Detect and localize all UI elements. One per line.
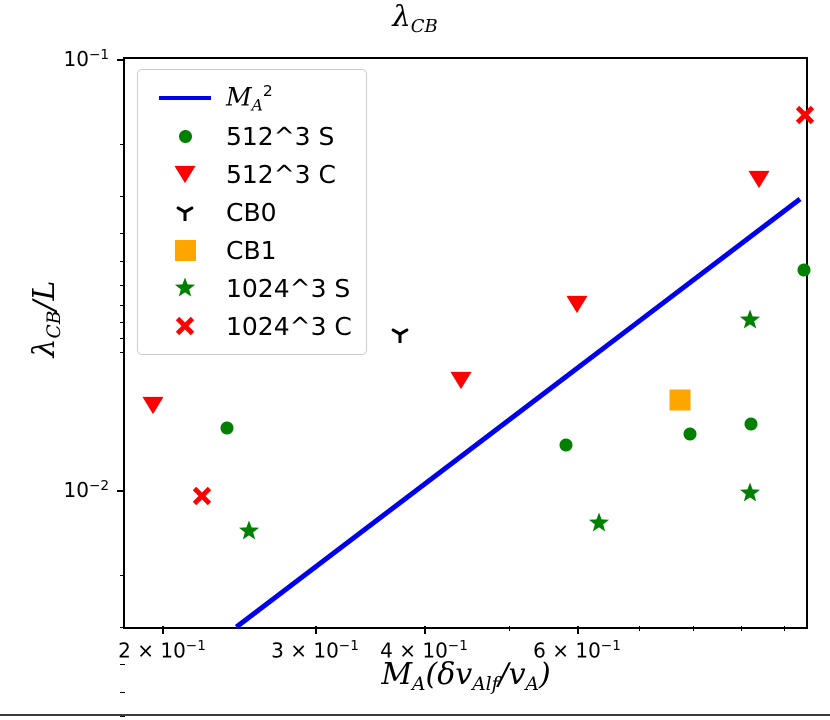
legend-item[interactable]: 1024^3 C <box>148 307 352 345</box>
legend-marker-square-icon <box>148 240 222 261</box>
y-tick-minor <box>120 233 125 234</box>
data-point <box>670 390 691 411</box>
figure-canvas: λCB λCB/L MA(δvAlf/vA) 2 × 10−13 × 10−14… <box>0 0 830 720</box>
data-point <box>739 309 761 331</box>
data-point <box>449 368 473 392</box>
legend-marker-tri-down-icon <box>148 203 222 221</box>
y-tick-minor <box>120 352 125 353</box>
xlabel-slash: / <box>498 657 508 692</box>
legend-item-label: 512^3 S <box>226 122 334 151</box>
legend-marker-x-icon <box>148 315 222 337</box>
y-tick-minor <box>120 692 125 693</box>
data-point <box>745 418 758 431</box>
data-point <box>684 428 697 441</box>
legend-marker-line-icon <box>148 96 222 100</box>
xlabel-v-sub: A <box>526 674 539 695</box>
legend[interactable]: MA2512^3 S512^3 CCB0CB11024^3 S1024^3 C <box>137 69 367 355</box>
legend-item[interactable]: 512^3 S <box>148 117 352 155</box>
y-tick-label: 10−1 <box>64 47 110 71</box>
y-tick-minor <box>120 305 125 306</box>
xlabel-dv-sub: Alf <box>472 674 498 695</box>
data-point <box>739 482 761 504</box>
y-tick-minor <box>120 664 125 665</box>
legend-item-label: 512^3 C <box>226 160 336 189</box>
ylabel-tail: /L <box>27 281 62 311</box>
x-axis-label: MA(δvAlf/vA) <box>123 657 809 695</box>
x-tick-major <box>424 626 426 634</box>
x-tick-major <box>162 626 164 634</box>
plot-area: 2 × 10−13 × 10−14 × 10−16 × 10−110−110−2… <box>123 57 808 629</box>
data-point <box>191 485 213 507</box>
y-tick-minor <box>120 338 125 339</box>
legend-item-label: MA2 <box>226 82 273 115</box>
legend-item-label: CB1 <box>226 236 277 265</box>
x-tick-major <box>315 626 317 634</box>
legend-item[interactable]: 512^3 C <box>148 155 352 193</box>
x-tick-minor <box>509 626 510 631</box>
y-tick-minor <box>120 196 125 197</box>
data-point <box>588 512 610 534</box>
legend-item-label: CB0 <box>226 198 277 227</box>
page-title: λCB <box>0 2 830 36</box>
x-tick-label: 3 × 10−1 <box>271 638 359 662</box>
y-axis-label: λCB/L <box>27 209 65 429</box>
legend-marker-circle-icon <box>148 130 222 143</box>
xlabel-m-sub: A <box>412 674 425 695</box>
legend-item-label: 1024^3 C <box>226 312 352 341</box>
ylabel-subscript: CB <box>44 311 65 339</box>
x-tick-label: 6 × 10−1 <box>533 638 621 662</box>
y-tick-label: 10−2 <box>64 478 110 502</box>
figure-bottom-divider <box>0 714 830 716</box>
title-subscript: CB <box>411 16 438 37</box>
x-tick-label: 2 × 10−1 <box>118 638 206 662</box>
y-tick-minor <box>120 627 125 628</box>
data-point <box>391 325 409 343</box>
y-tick-minor <box>120 261 125 262</box>
data-point <box>560 439 573 452</box>
ylabel-lambda: λ <box>27 339 62 358</box>
xlabel-v: v <box>509 657 526 692</box>
x-tick-major <box>577 626 579 634</box>
legend-item[interactable]: MA2 <box>148 79 352 117</box>
data-point <box>747 167 771 191</box>
y-tick-minor <box>120 716 125 717</box>
data-point <box>794 104 816 126</box>
x-tick-label: 4 × 10−1 <box>380 638 468 662</box>
legend-item[interactable]: CB0 <box>148 193 352 231</box>
y-tick-minor <box>120 575 125 576</box>
legend-item-label: 1024^3 S <box>226 274 350 303</box>
y-tick-minor <box>120 285 125 286</box>
data-point <box>565 292 589 316</box>
title-lambda: λ <box>392 0 410 33</box>
legend-marker-triangle-down-icon <box>148 162 222 186</box>
y-tick-minor <box>120 144 125 145</box>
data-point <box>141 393 165 417</box>
legend-item[interactable]: 1024^3 S <box>148 269 352 307</box>
legend-item[interactable]: CB1 <box>148 231 352 269</box>
x-tick-minor <box>693 626 694 631</box>
y-tick-major <box>117 59 125 61</box>
legend-marker-star-icon <box>148 277 222 299</box>
x-tick-minor <box>741 626 742 631</box>
y-tick-minor <box>120 322 125 323</box>
data-point <box>221 422 234 435</box>
x-tick-minor <box>639 626 640 631</box>
data-point <box>238 520 260 542</box>
x-tick-minor <box>784 626 785 631</box>
y-tick-major <box>117 490 125 492</box>
data-point <box>798 264 811 277</box>
